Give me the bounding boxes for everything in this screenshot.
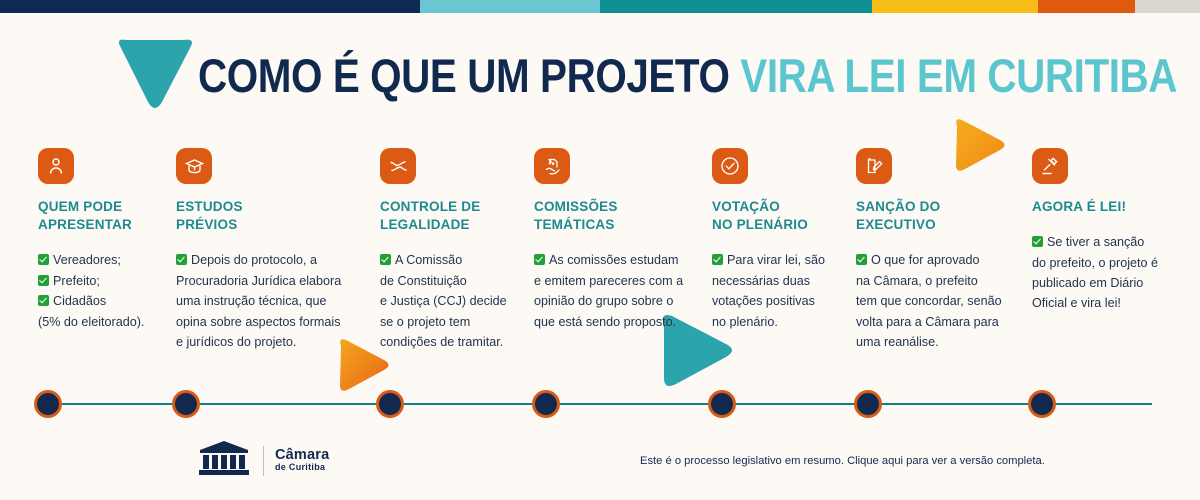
step-bullet-text: Cidadãos xyxy=(53,294,106,308)
step-bullet: Se tiver a sanção do prefeito, o projeto… xyxy=(1032,232,1170,314)
step-votacao-no-plenario[interactable]: VOTAÇÃO NO PLENÁRIOPara virar lei, são n… xyxy=(712,148,850,332)
step-badge-quem-pode-apresentar xyxy=(38,148,74,184)
top-color-bar xyxy=(0,0,1200,13)
gavel-icon xyxy=(1040,156,1061,177)
step-bullet: As comissões estudam e emitem pareceres … xyxy=(534,250,688,332)
step-bullet-text: A Comissão de Constituição e Justiça (CC… xyxy=(380,253,507,349)
timeline-dot-3[interactable] xyxy=(376,390,404,418)
step-badge-estudos-previos xyxy=(176,148,212,184)
camara-logo[interactable]: Câmara de Curitiba xyxy=(196,440,329,481)
page-title: COMO É QUE UM PROJETO VIRA LEI EM CURITI… xyxy=(198,52,1200,99)
step-title-controle-de-legalidade: CONTROLE DE LEGALIDADE xyxy=(380,198,518,234)
timeline-dot-7[interactable] xyxy=(1028,390,1056,418)
logo-name: Câmara xyxy=(275,448,329,464)
step-body-estudos-previos: Depois do protocolo, a Procuradoria Jurí… xyxy=(176,250,360,352)
step-body-agora-e-lei: Se tiver a sanção do prefeito, o projeto… xyxy=(1032,232,1170,314)
step-bullet-text: Para virar lei, são necessárias duas vot… xyxy=(712,253,825,328)
check-icon xyxy=(38,275,49,286)
step-badge-votacao-no-plenario xyxy=(712,148,748,184)
check-icon xyxy=(1032,236,1043,247)
step-badge-comissoes-tematicas xyxy=(534,148,570,184)
step-agora-e-lei[interactable]: AGORA É LEI!Se tiver a sanção do prefeit… xyxy=(1032,148,1182,314)
step-body-controle-de-legalidade: A Comissão de Constituição e Justiça (CC… xyxy=(380,250,518,352)
step-bullet: Vereadores; xyxy=(38,250,166,270)
step-bullet-text: Depois do protocolo, a Procuradoria Jurí… xyxy=(176,253,341,349)
segment-navy xyxy=(0,0,420,13)
step-title-comissoes-tematicas: COMISSÕES TEMÁTICAS xyxy=(534,198,688,234)
step-bullet-text: As comissões estudam e emitem pareceres … xyxy=(534,253,683,328)
step-title-votacao-no-plenario: VOTAÇÃO NO PLENÁRIO xyxy=(712,198,838,234)
timeline-dot-2[interactable] xyxy=(172,390,200,418)
step-body-comissoes-tematicas: As comissões estudam e emitem pareceres … xyxy=(534,250,688,332)
logo-subtitle: de Curitiba xyxy=(275,463,329,473)
step-badge-agora-e-lei xyxy=(1032,148,1068,184)
step-bullet-text: O que for aprovado na Câmara, o prefeito… xyxy=(856,253,1002,349)
logo-divider xyxy=(263,446,264,476)
footer-note-before: Este é o processo legislativo em resumo. xyxy=(640,455,847,467)
check-icon xyxy=(38,295,49,306)
page-title-part-dark: COMO É QUE UM PROJETO xyxy=(198,49,729,102)
segment-orange xyxy=(1038,0,1135,13)
step-badge-sancao-do-executivo xyxy=(856,148,892,184)
check-icon xyxy=(534,254,545,265)
step-estudos-previos[interactable]: ESTUDOS PRÉVIOSDepois do protocolo, a Pr… xyxy=(176,148,372,352)
step-bullet-text: Vereadores; xyxy=(53,253,121,267)
step-bullet-text: Prefeito; xyxy=(53,274,100,288)
balance-scales-icon xyxy=(388,156,409,177)
step-title-agora-e-lei: AGORA É LEI! xyxy=(1032,198,1170,216)
timeline-line xyxy=(48,403,1152,405)
building-columns-icon xyxy=(196,440,252,481)
step-controle-de-legalidade[interactable]: CONTROLE DE LEGALIDADEA Comissão de Cons… xyxy=(380,148,530,352)
segment-gray xyxy=(1135,0,1200,13)
step-bullet: Prefeito; xyxy=(38,271,166,291)
hand-document-icon xyxy=(542,156,563,177)
step-body-votacao-no-plenario: Para virar lei, são necessárias duas vot… xyxy=(712,250,838,332)
step-comissoes-tematicas[interactable]: COMISSÕES TEMÁTICASAs comissões estudam … xyxy=(534,148,700,332)
timeline-dot-4[interactable] xyxy=(532,390,560,418)
footer-note-link[interactable]: Clique aqui xyxy=(847,455,903,467)
step-body-sancao-do-executivo: O que for aprovado na Câmara, o prefeito… xyxy=(856,250,1016,352)
person-icon xyxy=(46,156,66,176)
step-bullet: A Comissão de Constituição e Justiça (CC… xyxy=(380,250,518,352)
step-title-sancao-do-executivo: SANÇÃO DO EXECUTIVO xyxy=(856,198,1016,234)
check-circle-icon xyxy=(719,155,741,177)
step-extra-text: (5% do eleitorado). xyxy=(38,312,166,332)
step-title-estudos-previos: ESTUDOS PRÉVIOS xyxy=(176,198,360,234)
step-sancao-do-executivo[interactable]: SANÇÃO DO EXECUTIVOO que for aprovado na… xyxy=(856,148,1028,352)
footer-note-after: para ver a versão completa. xyxy=(903,455,1045,467)
timeline-dot-5[interactable] xyxy=(708,390,736,418)
signature-pen-icon xyxy=(864,156,885,177)
check-icon xyxy=(856,254,867,265)
timeline-dot-1[interactable] xyxy=(34,390,62,418)
step-title-quem-pode-apresentar: QUEM PODE APRESENTAR xyxy=(38,198,166,234)
page-title-part-teal: VIRA LEI EM CURITIBA xyxy=(740,49,1177,102)
timeline xyxy=(0,386,1200,422)
check-icon xyxy=(176,254,187,265)
step-bullet: Para virar lei, são necessárias duas vot… xyxy=(712,250,838,332)
graduation-book-icon xyxy=(184,156,205,177)
step-body-quem-pode-apresentar: Vereadores;Prefeito;Cidadãos(5% do eleit… xyxy=(38,250,166,332)
step-bullet-text: Se tiver a sanção do prefeito, o projeto… xyxy=(1032,235,1158,310)
segment-light-teal xyxy=(420,0,600,13)
check-icon xyxy=(38,254,49,265)
segment-dark-teal xyxy=(600,0,872,13)
timeline-dot-6[interactable] xyxy=(854,390,882,418)
check-icon xyxy=(712,254,723,265)
segment-yellow xyxy=(872,0,1038,13)
step-bullet: O que for aprovado na Câmara, o prefeito… xyxy=(856,250,1016,352)
step-badge-controle-de-legalidade xyxy=(380,148,416,184)
check-icon xyxy=(380,254,391,265)
step-bullet: Cidadãos xyxy=(38,291,166,311)
footer-note: Este é o processo legislativo em resumo.… xyxy=(640,454,1060,469)
step-bullet: Depois do protocolo, a Procuradoria Jurí… xyxy=(176,250,360,352)
step-quem-pode-apresentar[interactable]: QUEM PODE APRESENTARVereadores;Prefeito;… xyxy=(38,148,178,332)
